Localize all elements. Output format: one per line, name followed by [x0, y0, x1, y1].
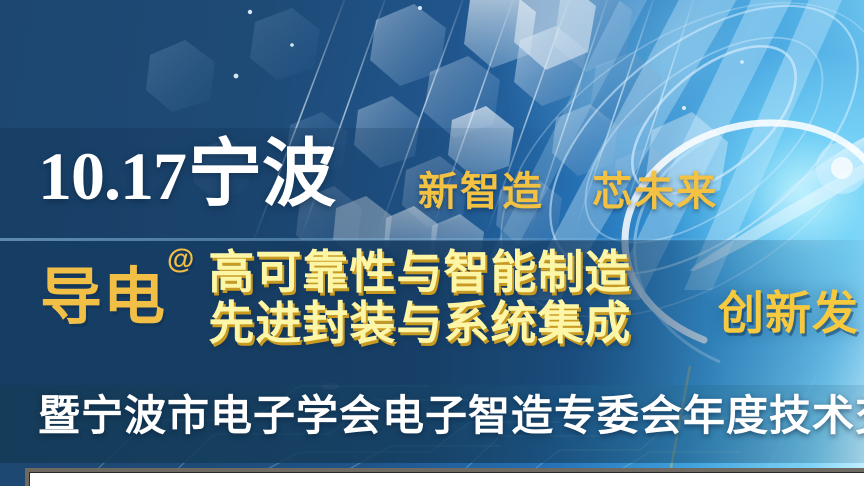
- at-mark-icon: @: [167, 243, 195, 274]
- brand-text: 导电: [40, 263, 166, 332]
- headline-block: 高可靠性与智能制造 先进封装与系统集成: [208, 248, 631, 348]
- event-banner: 10.17 宁波 新智造 芯未来 导电@ 高可靠性与智能制造 先进封装与系统集成…: [0, 0, 864, 486]
- brand-name: 导电@: [40, 267, 194, 329]
- slogan-part-1: 新智造: [418, 170, 544, 214]
- banner-content: 10.17 宁波 新智造 芯未来 导电@ 高可靠性与智能制造 先进封装与系统集成…: [0, 0, 864, 486]
- event-slogan: 新智造 芯未来: [418, 172, 718, 212]
- event-date: 10.17: [38, 142, 186, 210]
- headline-line-1: 高可靠性与智能制造: [208, 248, 631, 297]
- right-gold-text: 创新发: [718, 290, 859, 336]
- event-city: 宁波: [188, 140, 336, 210]
- date-city-row: 10.17 宁波: [38, 140, 336, 210]
- headline-line-2: 先进封装与系统集成: [208, 299, 631, 348]
- slogan-part-2: 芯未来: [592, 170, 718, 214]
- event-subtitle: 暨宁波市电子学会电子智造专委会年度技术交: [38, 393, 864, 439]
- main-title-row: 导电@ 高可靠性与智能制造 先进封装与系统集成: [40, 248, 631, 348]
- bottom-white-panel: [29, 472, 864, 486]
